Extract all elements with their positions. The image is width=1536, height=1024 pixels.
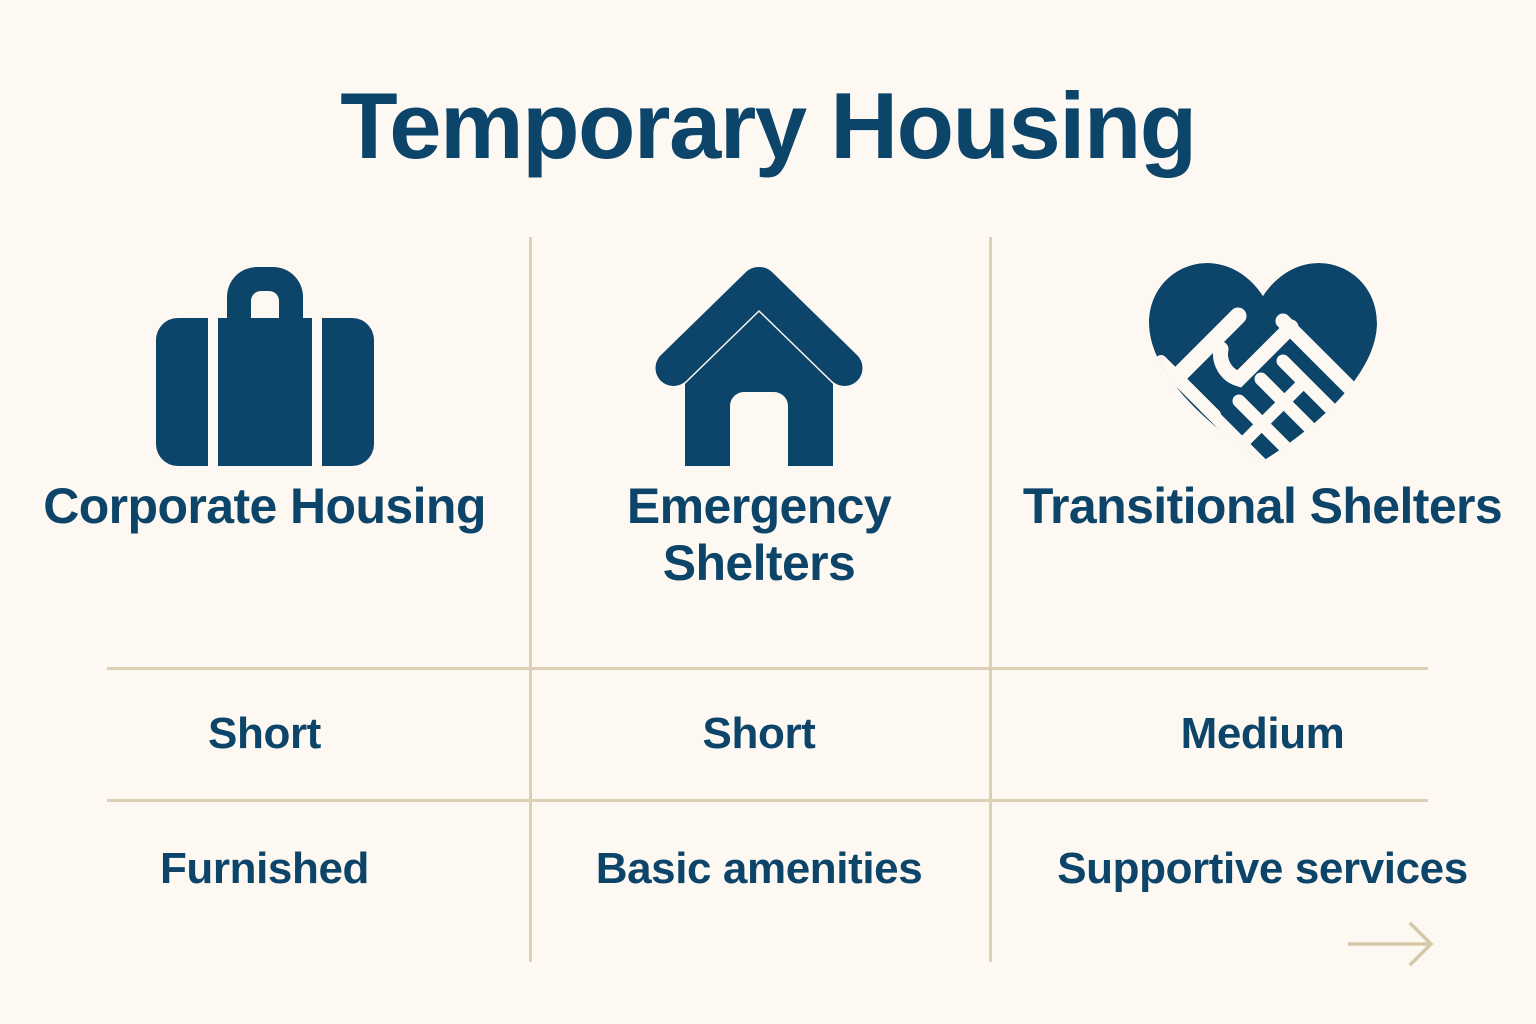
house-icon xyxy=(648,248,870,478)
cell-feature-corporate-housing: Furnished xyxy=(0,802,529,962)
column-transitional-shelters: Transitional Shelters xyxy=(989,248,1536,668)
cell-duration-corporate-housing: Short xyxy=(0,670,529,799)
cell-duration-transitional-shelters: Medium xyxy=(989,670,1536,799)
cell-feature-transitional-shelters: Supportive services xyxy=(989,802,1536,962)
page-title: Temporary Housing xyxy=(0,76,1536,176)
briefcase-icon xyxy=(156,248,374,478)
cell-duration-emergency-shelters: Short xyxy=(529,670,989,799)
column-corporate-housing: Corporate Housing xyxy=(0,248,529,668)
column-title-transitional-shelters: Transitional Shelters xyxy=(1013,478,1512,535)
cell-feature-emergency-shelters: Basic amenities xyxy=(529,802,989,962)
heart-handshake-icon xyxy=(1143,248,1383,478)
table-row-duration: Short Short Medium xyxy=(0,670,1536,799)
column-title-corporate-housing: Corporate Housing xyxy=(33,478,496,535)
column-emergency-shelters: Emergency Shelters xyxy=(529,248,989,668)
column-title-emergency-shelters: Emergency Shelters xyxy=(529,478,989,592)
arrow-right-icon[interactable] xyxy=(1348,918,1438,968)
column-header-row: Corporate Housing Emergency Shelters xyxy=(0,248,1536,668)
infographic-poster: Temporary Housing Corporate Housing xyxy=(0,0,1536,1024)
table-row-feature: Furnished Basic amenities Supportive ser… xyxy=(0,802,1536,962)
